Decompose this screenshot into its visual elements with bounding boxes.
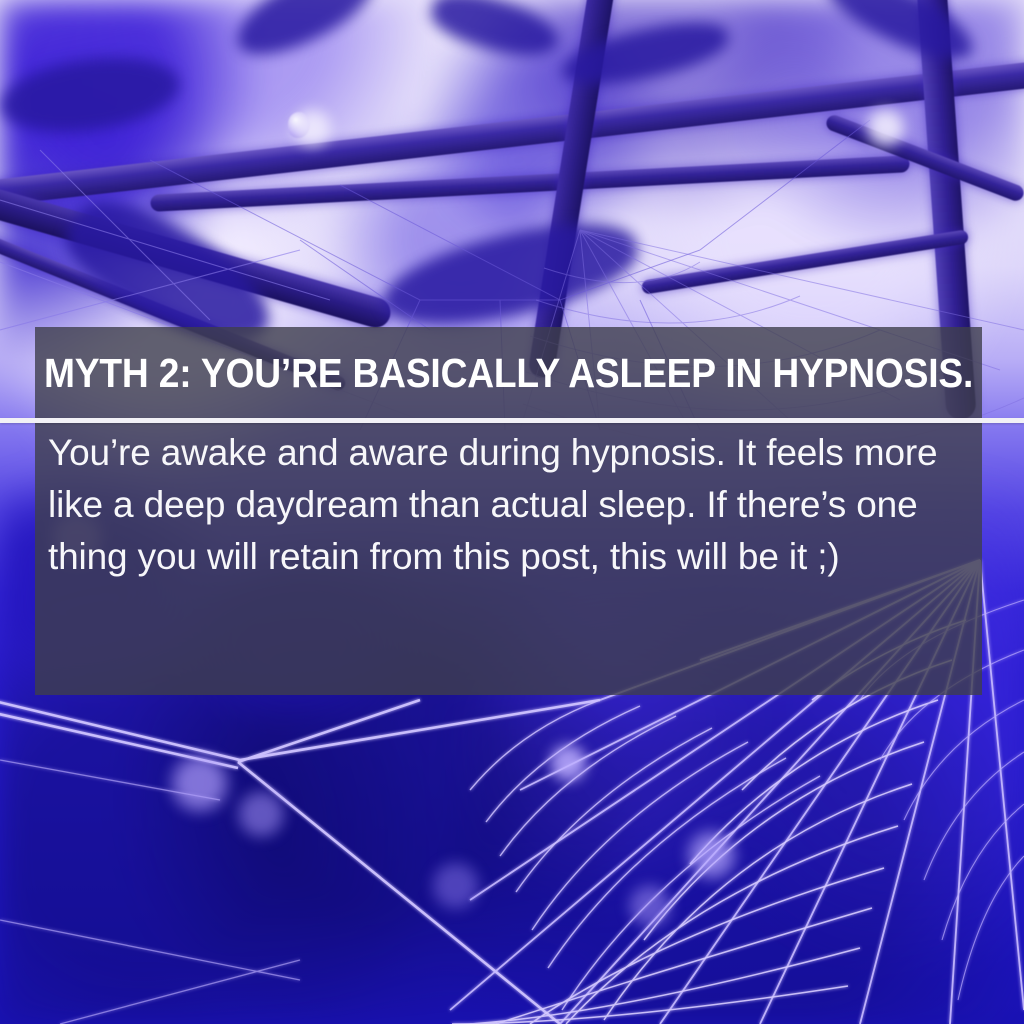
panel-title-band: MYTH 2: YOU’RE BASICALLY ASLEEP IN HYPNO… [35, 327, 982, 419]
quote-panel: MYTH 2: YOU’RE BASICALLY ASLEEP IN HYPNO… [35, 327, 982, 695]
title-divider [0, 418, 1024, 423]
body-paragraph: You’re awake and aware during hypnosis. … [48, 427, 970, 583]
quote-card-canvas: MYTH 2: YOU’RE BASICALLY ASLEEP IN HYPNO… [0, 0, 1024, 1024]
page-title: MYTH 2: YOU’RE BASICALLY ASLEEP IN HYPNO… [44, 353, 973, 394]
panel-body: You’re awake and aware during hypnosis. … [35, 427, 982, 583]
